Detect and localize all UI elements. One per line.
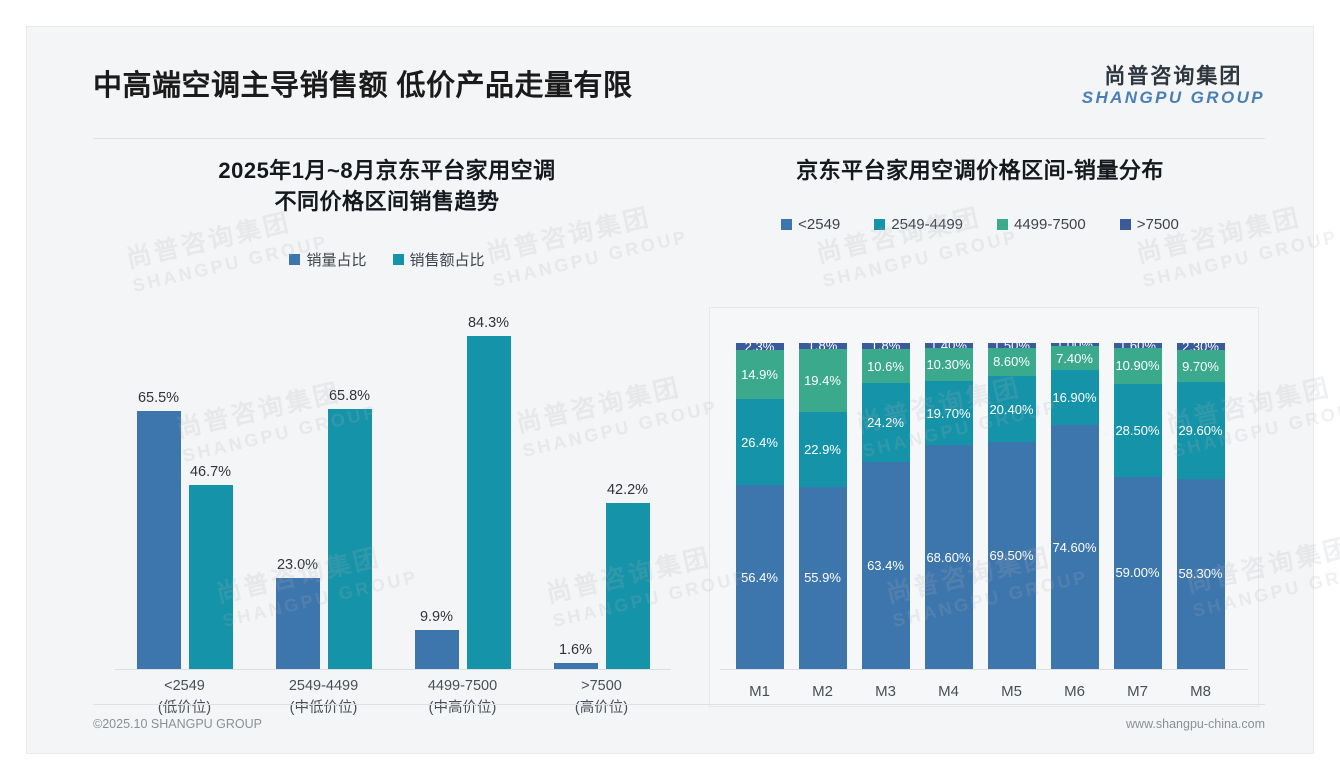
chart-title-line-1: 2025年1月~8月京东平台家用空调 xyxy=(97,155,677,186)
x-tick-month: M3 xyxy=(862,683,910,700)
stacked-segment-label: 55.9% xyxy=(804,570,841,585)
x-tick-range: <2549 xyxy=(115,676,254,698)
stacked-bar-segment[interactable]: 16.90% xyxy=(1051,370,1099,425)
stacked-bar-column[interactable]: 1.00%7.40%16.90%74.60% xyxy=(1051,343,1099,669)
bar-sales-volume[interactable] xyxy=(137,411,181,669)
stacked-segment-label: 19.4% xyxy=(804,373,841,388)
stacked-bar-segment[interactable]: 56.4% xyxy=(736,485,784,669)
stacked-segment-label: 28.50% xyxy=(1115,423,1159,438)
stacked-bar-segment[interactable]: 68.60% xyxy=(925,445,973,669)
stacked-bar-column[interactable]: 2.3%14.9%26.4%56.4% xyxy=(736,343,784,669)
bar-sales-volume[interactable] xyxy=(554,663,598,669)
stacked-segment-label: 74.60% xyxy=(1052,540,1096,555)
stacked-segment-label: 10.6% xyxy=(867,359,904,374)
legend-label-sales-volume: 销量占比 xyxy=(306,249,366,270)
brand-logo: 尚普咨询集团 SHANGPU GROUP xyxy=(1082,65,1265,108)
legend-swatch-blue xyxy=(289,254,300,265)
stacked-segment-label: 20.40% xyxy=(989,402,1033,417)
stacked-bar-segment[interactable]: 58.30% xyxy=(1177,479,1225,669)
stacked-segment-label: 26.4% xyxy=(741,435,778,450)
stacked-segment-label: 63.4% xyxy=(867,558,904,573)
stacked-bar-column[interactable]: 1.40%10.30%19.70%68.60% xyxy=(925,343,973,669)
bar-sales-amount[interactable] xyxy=(328,409,372,669)
stacked-segment-label: 59.00% xyxy=(1115,565,1159,580)
stacked-segment-label: 10.30% xyxy=(926,357,970,372)
stacked-bar-segment[interactable]: 10.6% xyxy=(862,349,910,384)
website-url: www.shangpu-china.com xyxy=(1126,717,1265,731)
bar-wrap[interactable]: 23.0% xyxy=(276,314,320,669)
stacked-bar-column[interactable]: 1.8%10.6%24.2%63.4% xyxy=(862,343,910,669)
stacked-bar-segment[interactable]: 63.4% xyxy=(862,462,910,669)
stacked-bar-segment[interactable]: 20.40% xyxy=(988,376,1036,443)
stacked-bar-segment[interactable]: 69.50% xyxy=(988,442,1036,669)
legend-label-2549-4499: 2549-4499 xyxy=(891,216,963,233)
legend-item-under-2549[interactable]: <2549 xyxy=(781,216,840,233)
x-tick-range: >7500 xyxy=(532,676,671,698)
bar-value-label: 46.7% xyxy=(190,464,231,480)
legend-label-4499-7500: 4499-7500 xyxy=(1014,216,1086,233)
bar-group: 65.5% 46.7% xyxy=(115,314,254,669)
legend-item-over-7500[interactable]: >7500 xyxy=(1120,216,1179,233)
bar-wrap[interactable]: 46.7% xyxy=(189,314,233,669)
chart-title-line-2: 不同价格区间销售趋势 xyxy=(97,186,677,217)
stacked-bar-segment[interactable]: 19.70% xyxy=(925,381,973,445)
stacked-segment-label: 68.60% xyxy=(926,550,970,565)
x-tick: 2549-4499 (中低价位) xyxy=(254,676,393,720)
x-tick: >7500 (高价位) xyxy=(532,676,671,720)
footer-divider xyxy=(93,704,1265,705)
legend-swatch-teal xyxy=(393,254,404,265)
bar-sales-amount[interactable] xyxy=(467,336,511,669)
bar-group: 1.6% 42.2% xyxy=(532,314,671,669)
bar-value-label: 23.0% xyxy=(277,557,318,573)
logo-english-text: SHANGPU GROUP xyxy=(1082,88,1265,108)
bar-value-label: 84.3% xyxy=(468,315,509,331)
x-tick-sublabel: (中低价位) xyxy=(254,698,393,720)
stacked-bar-column[interactable]: 2.30%9.70%29.60%58.30% xyxy=(1177,343,1225,669)
stacked-segment-label: 9.70% xyxy=(1182,359,1219,374)
x-tick-month: M5 xyxy=(988,683,1036,700)
x-tick-month: M7 xyxy=(1114,683,1162,700)
legend-item-4499-7500[interactable]: 4499-7500 xyxy=(997,216,1086,233)
stacked-bar-segment[interactable]: 29.60% xyxy=(1177,382,1225,478)
stacked-bar-segment[interactable]: 7.40% xyxy=(1051,346,1099,370)
stacked-bar-segment[interactable]: 59.00% xyxy=(1114,477,1162,669)
bar-group: 23.0% 65.8% xyxy=(254,314,393,669)
chart-panel-stacked: 京东平台家用空调价格区间-销量分布 <2549 2549-4499 4499-7… xyxy=(695,155,1265,711)
x-tick-range: 2549-4499 xyxy=(254,676,393,698)
stacked-segment-label: 8.60% xyxy=(993,354,1030,369)
stacked-bar-segment[interactable]: 24.2% xyxy=(862,383,910,462)
stacked-segment-label: 19.70% xyxy=(926,406,970,421)
stacked-bar-column[interactable]: 1.8%19.4%22.9%55.9% xyxy=(799,343,847,669)
stacked-bar-column[interactable]: 1.50%8.60%20.40%69.50% xyxy=(988,343,1036,669)
stacked-segment-label: 7.40% xyxy=(1056,351,1093,366)
chart-panel-grouped: 2025年1月~8月京东平台家用空调 不同价格区间销售趋势 销量占比 销售额占比… xyxy=(97,155,677,711)
bar-wrap[interactable]: 84.3% xyxy=(467,314,511,669)
stacked-bar-segment[interactable]: 55.9% xyxy=(799,487,847,669)
stacked-bar-segment[interactable]: 19.4% xyxy=(799,349,847,412)
stacked-bar-segment[interactable]: 2.3% xyxy=(736,343,784,350)
stacked-bar-segment[interactable]: 8.60% xyxy=(988,348,1036,376)
bar-group: 9.9% 84.3% xyxy=(393,314,532,669)
copyright-text: ©2025.10 SHANGPU GROUP xyxy=(93,717,262,731)
stacked-bar-segment[interactable]: 14.9% xyxy=(736,350,784,399)
stacked-bar-segment[interactable]: 74.60% xyxy=(1051,425,1099,668)
x-tick-sublabel: (高价位) xyxy=(532,698,671,720)
header-divider xyxy=(93,138,1265,139)
stacked-segment-label: 22.9% xyxy=(804,442,841,457)
bar-wrap[interactable]: 65.8% xyxy=(328,314,372,669)
x-tick-month: M4 xyxy=(925,683,973,700)
page-title: 中高端空调主导销售额 低价产品走量有限 xyxy=(93,62,633,104)
bar-value-label: 65.8% xyxy=(329,388,370,404)
bar-value-label: 42.2% xyxy=(607,482,648,498)
bar-value-label: 9.9% xyxy=(420,609,453,625)
legend-item-sales-amount[interactable]: 销售额占比 xyxy=(393,249,485,270)
legend-item-2549-4499[interactable]: 2549-4499 xyxy=(874,216,963,233)
x-axis-line-stacked xyxy=(720,669,1248,670)
plot-area-grouped: 65.5% 46.7% 23.0% 65.8% xyxy=(115,315,671,670)
bar-value-label: 1.6% xyxy=(559,642,592,658)
x-tick-month: M2 xyxy=(799,683,847,700)
bar-sales-amount[interactable] xyxy=(189,485,233,669)
stacked-segment-label: 16.90% xyxy=(1052,390,1096,405)
stacked-segment-label: 29.60% xyxy=(1178,423,1222,438)
stacked-bar-segment[interactable]: 9.70% xyxy=(1177,350,1225,382)
slide-canvas: 中高端空调主导销售额 低价产品走量有限 尚普咨询集团 SHANGPU GROUP… xyxy=(27,27,1313,753)
bar-wrap[interactable]: 42.2% xyxy=(606,314,650,669)
legend-grouped: 销量占比 销售额占比 xyxy=(97,249,677,270)
legend-swatch-darkblue xyxy=(1120,219,1131,230)
stacked-segment-label: 24.2% xyxy=(867,415,904,430)
stacked-bar-segment[interactable]: 22.9% xyxy=(799,412,847,487)
slide-header: 中高端空调主导销售额 低价产品走量有限 尚普咨询集团 SHANGPU GROUP xyxy=(27,27,1313,115)
legend-label-over-7500: >7500 xyxy=(1137,216,1179,233)
x-tick-month: M1 xyxy=(736,683,784,700)
stacked-segment-label: 10.90% xyxy=(1115,358,1159,373)
logo-chinese-text: 尚普咨询集团 xyxy=(1082,65,1265,88)
bar-wrap[interactable]: 1.6% xyxy=(554,314,598,669)
plot-area-stacked: 2.3%14.9%26.4%56.4%1.8%19.4%22.9%55.9%1.… xyxy=(709,307,1259,707)
legend-stacked: <2549 2549-4499 4499-7500 >7500 xyxy=(695,216,1265,233)
stacked-segment-label: 56.4% xyxy=(741,570,778,585)
stacked-bar-column[interactable]: 1.60%10.90%28.50%59.00% xyxy=(1114,343,1162,669)
legend-swatch-green xyxy=(997,219,1008,230)
stacked-bar-segment[interactable]: 10.90% xyxy=(1114,348,1162,384)
stacked-bar-segment[interactable]: 26.4% xyxy=(736,399,784,485)
legend-swatch-teal xyxy=(874,219,885,230)
bar-wrap[interactable]: 9.9% xyxy=(415,314,459,669)
legend-swatch-blue xyxy=(781,219,792,230)
bar-wrap[interactable]: 65.5% xyxy=(137,314,181,669)
stacked-segment-label: 58.30% xyxy=(1178,566,1222,581)
stacked-segment-label: 69.50% xyxy=(989,548,1033,563)
bar-sales-volume[interactable] xyxy=(276,578,320,669)
stacked-bar-segment[interactable]: 28.50% xyxy=(1114,384,1162,477)
legend-label-sales-amount: 销售额占比 xyxy=(410,249,485,270)
legend-item-sales-volume[interactable]: 销量占比 xyxy=(289,249,366,270)
bar-sales-amount[interactable] xyxy=(606,503,650,669)
stacked-bar-segment[interactable]: 2.30% xyxy=(1177,343,1225,350)
stacked-bar-segment[interactable]: 10.30% xyxy=(925,348,973,382)
x-tick-range: 4499-7500 xyxy=(393,676,532,698)
bar-sales-volume[interactable] xyxy=(415,630,459,669)
x-tick: 4499-7500 (中高价位) xyxy=(393,676,532,720)
x-axis-line-grouped xyxy=(115,669,671,670)
chart-title-grouped: 2025年1月~8月京东平台家用空调 不同价格区间销售趋势 xyxy=(97,155,677,217)
legend-label-under-2549: <2549 xyxy=(798,216,840,233)
x-tick-month: M8 xyxy=(1177,683,1225,700)
x-tick-month: M6 xyxy=(1051,683,1099,700)
x-tick: <2549 (低价位) xyxy=(115,676,254,720)
chart-title-stacked: 京东平台家用空调价格区间-销量分布 xyxy=(695,155,1265,186)
x-tick-sublabel: (中高价位) xyxy=(393,698,532,720)
stacked-segment-label: 14.9% xyxy=(741,367,778,382)
bar-value-label: 65.5% xyxy=(138,390,179,406)
